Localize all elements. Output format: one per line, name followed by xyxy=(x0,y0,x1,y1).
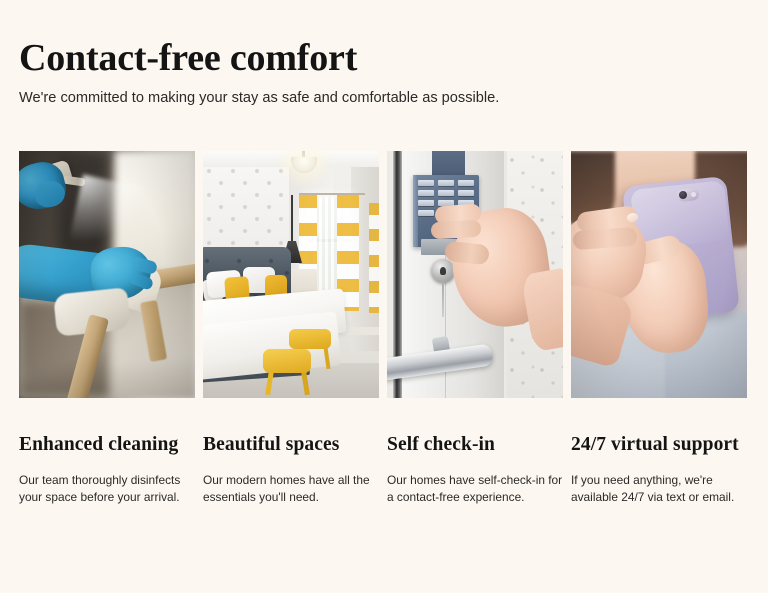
keypad-key[interactable] xyxy=(418,210,434,216)
bedroom-photo xyxy=(203,151,379,398)
page-title: Contact-free comfort xyxy=(19,36,749,80)
feature-card-self-check-in: Self check-in Our homes have self-check-… xyxy=(387,151,563,506)
card-title: Beautiful spaces xyxy=(203,432,379,457)
photo-vignette xyxy=(571,151,747,398)
card-title: Self check-in xyxy=(387,432,563,457)
feature-card-row: Enhanced cleaning Our team thoroughly di… xyxy=(19,151,749,506)
section-header: Contact-free comfort We're committed to … xyxy=(19,36,749,108)
keypad-top-bracket xyxy=(432,151,465,177)
keypad-key[interactable] xyxy=(438,190,454,196)
pendant-lamp-cord xyxy=(291,195,293,243)
page-subtitle: We're committed to making your stay as s… xyxy=(19,88,749,108)
card-body: Our homes have self-check-in for a conta… xyxy=(387,472,563,506)
card-body: Our modern homes have all the essentials… xyxy=(203,472,379,506)
card-body: If you need anything, we're available 24… xyxy=(571,472,747,506)
yellow-ottoman-one xyxy=(289,329,331,349)
phone-photo xyxy=(571,151,747,398)
key-shaft xyxy=(442,281,444,317)
feature-card-enhanced-cleaning: Enhanced cleaning Our team thoroughly di… xyxy=(19,151,195,506)
keypad-key[interactable] xyxy=(418,180,434,186)
keypad-key[interactable] xyxy=(458,190,474,196)
card-title: Enhanced cleaning xyxy=(19,432,195,457)
contact-free-comfort-section: Contact-free comfort We're committed to … xyxy=(0,0,768,593)
baseboard xyxy=(343,327,379,335)
keypad-key[interactable] xyxy=(438,180,454,186)
feature-card-virtual-support: 24/7 virtual support If you need anythin… xyxy=(571,151,747,506)
card-title: 24/7 virtual support xyxy=(571,432,747,457)
keypad-lock-photo xyxy=(387,151,563,398)
curtain-far-right xyxy=(369,203,379,313)
feature-card-beautiful-spaces: Beautiful spaces Our modern homes have a… xyxy=(203,151,379,506)
keypad-key[interactable] xyxy=(458,180,474,186)
keypad-key[interactable] xyxy=(418,200,434,206)
card-body: Our team thoroughly disinfects your spac… xyxy=(19,472,195,506)
middle-finger xyxy=(431,220,482,240)
keypad-key[interactable] xyxy=(418,190,434,196)
yellow-ottoman-two xyxy=(263,349,311,373)
cleaning-photo xyxy=(19,151,195,398)
photo-vignette xyxy=(19,151,195,398)
keyhole xyxy=(440,267,446,275)
